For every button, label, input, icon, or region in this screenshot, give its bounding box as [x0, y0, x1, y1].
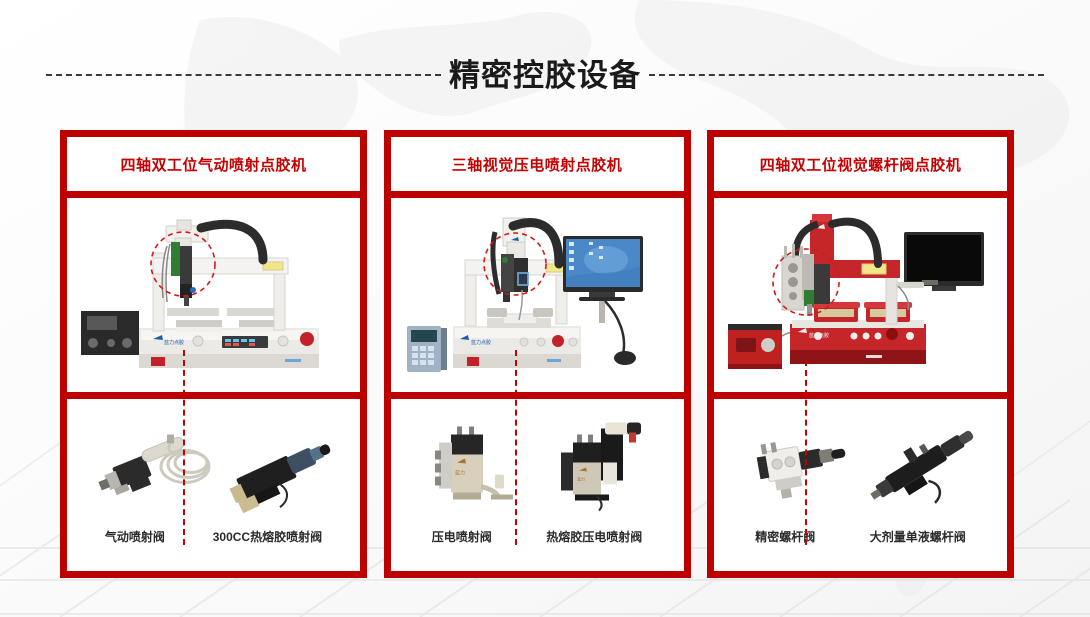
title-dash-left	[46, 74, 441, 76]
card-title: 三轴视觉压电喷射点胶机	[452, 154, 623, 175]
svg-text:蓝力点胶: 蓝力点胶	[809, 332, 829, 339]
machine-photo[interactable]: 蓝力点胶	[391, 198, 684, 392]
machine-illustration-white-gantry-with-monitor: 蓝力点胶	[391, 198, 684, 392]
valve-section: 精密螺杆阀 大剂量单液螺杆阀	[714, 399, 1007, 571]
svg-text:蓝力点胶: 蓝力点胶	[164, 339, 184, 346]
card-title-box: 四轴双工位视觉螺杆阀点胶机	[714, 137, 1007, 191]
valve-label: 大剂量单液螺杆阀	[870, 528, 966, 545]
machine-illustration-white-gantry-dual-station: 蓝力点胶	[67, 198, 360, 392]
product-card-piezo-jet[interactable]: 三轴视觉压电喷射点胶机	[384, 130, 691, 578]
product-card-screw-valve[interactable]: 四轴双工位视觉螺杆阀点胶机	[707, 130, 1014, 578]
product-card-row: 四轴双工位气动喷射点胶机	[60, 130, 1014, 578]
valve-label: 300CC热熔胶喷射阀	[213, 528, 322, 545]
valve-images	[67, 399, 360, 528]
valve-illustration-piezo: 蓝力 蓝力	[391, 399, 684, 528]
svg-text:蓝力: 蓝力	[455, 470, 465, 477]
valve-label: 压电喷射阀	[432, 528, 492, 545]
card-title-box: 四轴双工位气动喷射点胶机	[67, 137, 360, 191]
machine-photo[interactable]: 蓝力点胶	[67, 198, 360, 392]
machine-illustration-red-gantry-with-monitor: 蓝力点胶	[714, 198, 1007, 392]
card-title: 四轴双工位视觉螺杆阀点胶机	[760, 154, 962, 175]
machine-photo[interactable]: 蓝力点胶	[714, 198, 1007, 392]
valve-label: 热熔胶压电喷射阀	[546, 528, 642, 545]
valve-label-row: 精密螺杆阀 大剂量单液螺杆阀	[714, 528, 1007, 571]
page-header: 精密控胶设备	[0, 50, 1090, 100]
valve-images: 蓝力 蓝力	[391, 399, 684, 528]
valve-images	[714, 399, 1007, 528]
valve-illustration-screw	[714, 399, 1007, 528]
valve-label-row: 气动喷射阀 300CC热熔胶喷射阀	[67, 528, 360, 571]
valve-label: 气动喷射阀	[105, 528, 165, 545]
valve-section: 气动喷射阀 300CC热熔胶喷射阀	[67, 399, 360, 571]
valve-label-row: 压电喷射阀 热熔胶压电喷射阀	[391, 528, 684, 571]
page-title: 精密控胶设备	[449, 60, 641, 91]
valve-label: 精密螺杆阀	[755, 528, 815, 545]
card-title-box: 三轴视觉压电喷射点胶机	[391, 137, 684, 191]
valve-illustration-pneumatic	[67, 399, 360, 528]
title-dash-right	[649, 74, 1044, 76]
valve-section: 蓝力 蓝力	[391, 399, 684, 571]
product-card-pneumatic-jet[interactable]: 四轴双工位气动喷射点胶机	[60, 130, 367, 578]
svg-text:蓝力: 蓝力	[577, 476, 585, 482]
svg-text:蓝力点胶: 蓝力点胶	[471, 339, 491, 346]
card-title: 四轴双工位气动喷射点胶机	[120, 154, 306, 175]
